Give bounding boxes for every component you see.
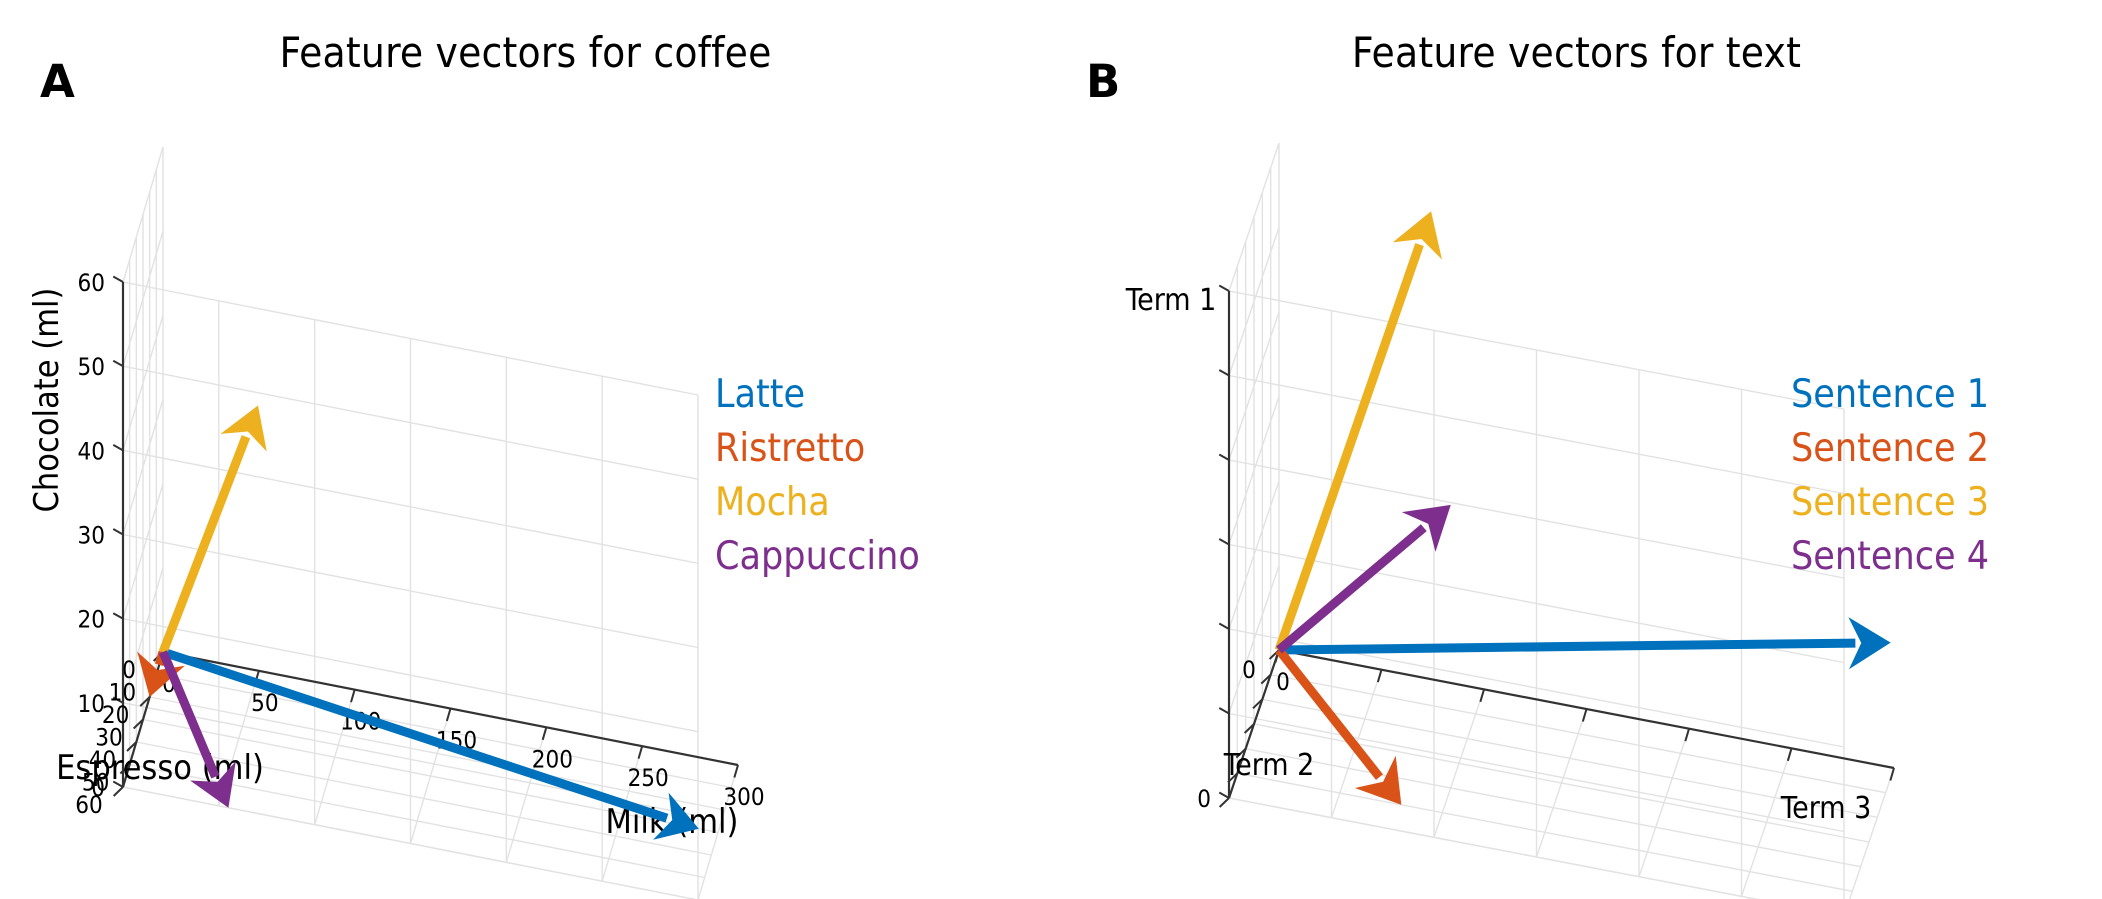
z-tick-label: 30 [78,522,105,550]
y-tick [114,787,123,796]
legend-item-latte: Latte [715,368,920,422]
x-tick [351,690,355,702]
legend-item-sentence-2: Sentence 2 [1791,422,1989,476]
y-axis-title: Term 2 [1223,748,1315,783]
z-tick [113,361,123,366]
grid-line [1844,768,1894,899]
z-tick [1219,793,1229,798]
grid-line [1237,773,1852,891]
z-tick-label: 10 [78,690,105,718]
z-tick [113,277,123,282]
legend-item-cappuccino: Cappuccino [715,530,920,584]
grid-line [1246,749,1861,867]
vector-sentence-1 [1279,643,1855,650]
x-axis-title: Term 3 [1780,791,1872,826]
z-tick [1219,708,1229,713]
panel-a: Feature vectors for coffee A 01020304050… [0,0,1051,899]
panel-b-legend: Sentence 1 Sentence 2 Sentence 3 Sentenc… [1791,368,1989,584]
x-tick [447,709,451,721]
legend-item-sentence-3: Sentence 3 [1791,476,1989,530]
grid-line [1639,729,1689,877]
x-tick [1788,748,1792,760]
panel-b: Feature vectors for text B 000Term 1Term… [1051,0,2102,899]
z-tick-label: 20 [78,606,105,634]
z-axis-title: Chocolate (ml) [27,288,67,513]
x-tick [1480,689,1484,701]
z-tick [113,529,123,534]
x-tick [734,765,738,777]
z-tick [1219,624,1229,629]
y-tick-label: 60 [75,791,102,819]
x-tick [1890,768,1894,780]
z-tick [1219,539,1229,544]
panel-a-legend: Latte Ristretto Mocha Cappuccino [715,368,920,584]
legend-item-ristretto: Ristretto [715,422,920,476]
z-tick-label: 40 [78,437,105,465]
z-tick [1219,370,1229,375]
figure-root: Feature vectors for coffee A 01020304050… [0,0,2102,899]
y-tick-label: 0 [1242,656,1256,684]
grid-line [1537,709,1587,857]
x-tick [639,746,643,758]
x-tick [1685,729,1689,741]
legend-item-sentence-1: Sentence 1 [1791,368,1989,422]
z-tick [113,613,123,618]
legend-item-sentence-4: Sentence 4 [1791,530,1989,584]
z-tick [113,445,123,450]
y-tick [1220,798,1229,807]
z-axis-title: Term 1 [1125,283,1217,318]
z-tick-label: 0 [1197,785,1211,813]
legend-item-mocha: Mocha [715,476,920,530]
x-tick-label: 200 [532,745,573,773]
z-tick [1219,286,1229,291]
z-tick-label: 50 [78,353,105,381]
x-tick-label: 0 [1276,668,1290,696]
z-tick [1219,455,1229,460]
x-tick [1583,709,1587,721]
x-tick [543,727,547,739]
x-tick [1378,670,1382,682]
z-tick-label: 60 [78,269,105,297]
x-tick-label: 250 [628,764,669,792]
